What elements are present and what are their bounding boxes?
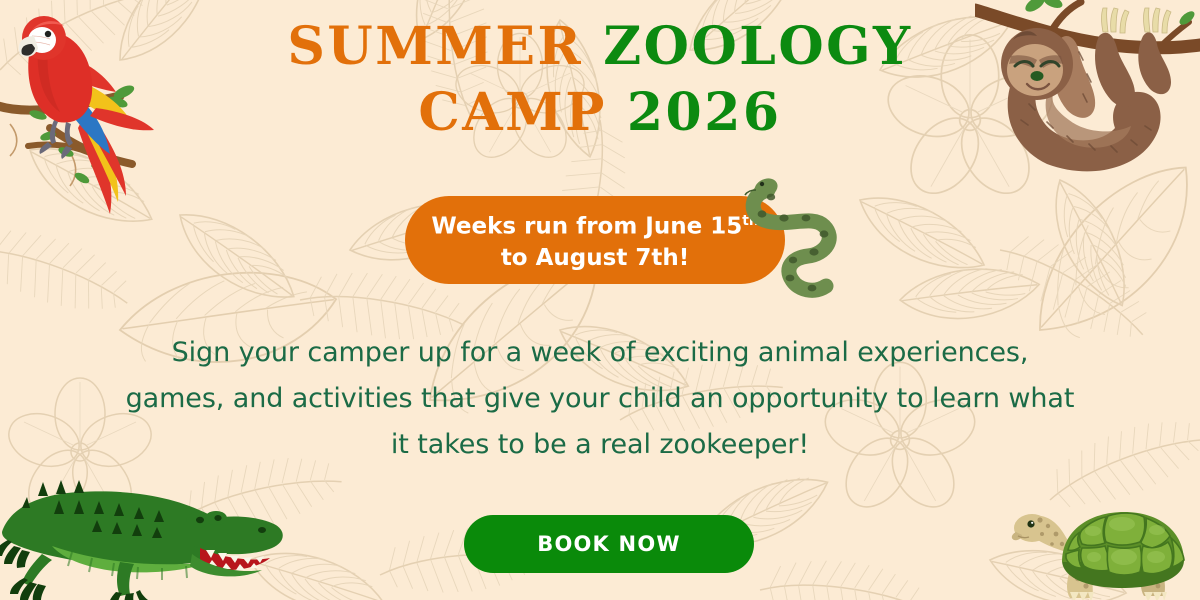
date-range-line-2: to August 7th! — [501, 245, 689, 271]
title-line-1: SUMMERZOOLOGY — [0, 14, 1200, 80]
tortoise-icon — [1008, 502, 1198, 600]
title-word-2026: 2026 — [627, 82, 782, 143]
title-word-zoology: ZOOLOGY — [603, 16, 912, 77]
date-range-line-1-prefix: Weeks run from June 15 — [431, 214, 742, 240]
description-line-1: Sign your camper up for a week of exciti… — [95, 330, 1105, 376]
date-ordinal-suffix: th — [742, 213, 758, 229]
title-line-2: CAMP2026 — [0, 80, 1200, 146]
date-range-text: Weeks run from June 15th to August 7th! — [413, 206, 776, 274]
title-word-camp: CAMP — [418, 82, 606, 143]
description-text: Sign your camper up for a week of exciti… — [95, 330, 1105, 468]
page-title: SUMMERZOOLOGY CAMP2026 — [0, 14, 1200, 146]
book-now-button[interactable]: BOOK NOW — [464, 515, 754, 573]
date-range-badge: Weeks run from June 15th to August 7th! — [405, 196, 785, 284]
description-line-3: it takes to be a real zookeeper! — [95, 422, 1105, 468]
crocodile-icon — [0, 462, 294, 600]
description-line-2: games, and activities that give your chi… — [95, 376, 1105, 422]
poster-canvas: SUMMERZOOLOGY CAMP2026 Weeks run from Ju… — [0, 0, 1200, 600]
title-word-summer: SUMMER — [287, 16, 583, 77]
